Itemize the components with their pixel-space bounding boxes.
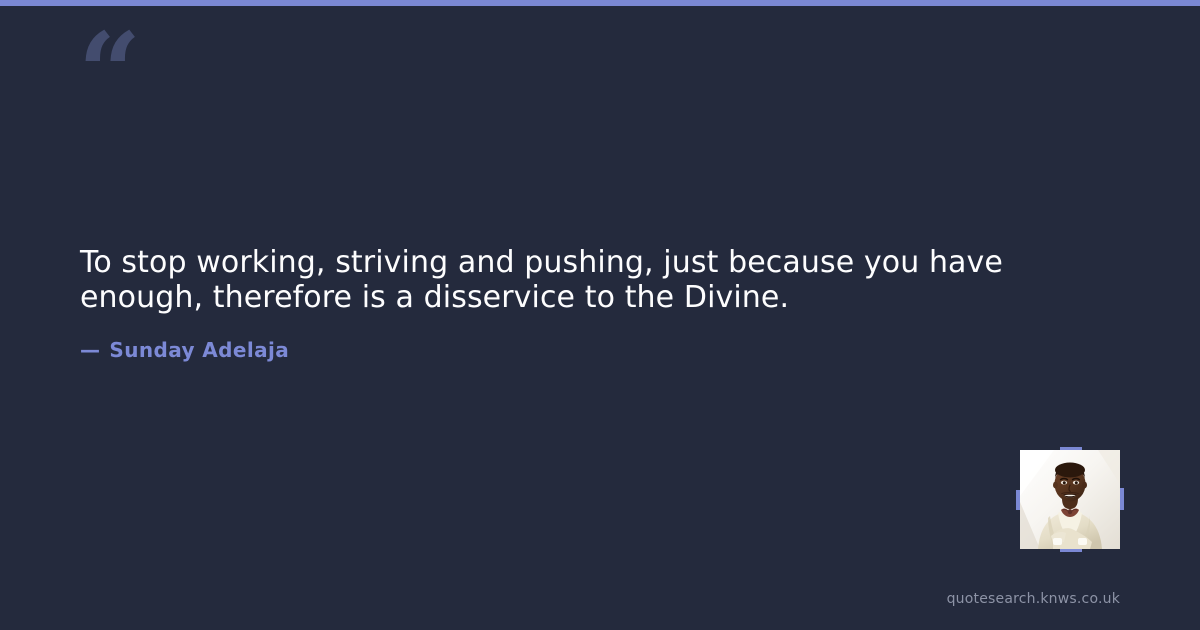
quote-text: To stop working, striving and pushing, j… — [80, 245, 1010, 315]
top-accent-bar — [0, 0, 1200, 6]
attribution-dash: — — [80, 338, 100, 362]
quotation-mark-icon: “ — [78, 18, 148, 88]
author-photo-frame — [1020, 450, 1120, 549]
author-photo — [1020, 450, 1120, 549]
quote-card: “ To stop working, striving and pushing,… — [0, 0, 1200, 630]
author-name: Sunday Adelaja — [109, 338, 289, 362]
source-url: quotesearch.knws.co.uk — [947, 591, 1120, 607]
attribution: — Sunday Adelaja — [80, 338, 289, 362]
